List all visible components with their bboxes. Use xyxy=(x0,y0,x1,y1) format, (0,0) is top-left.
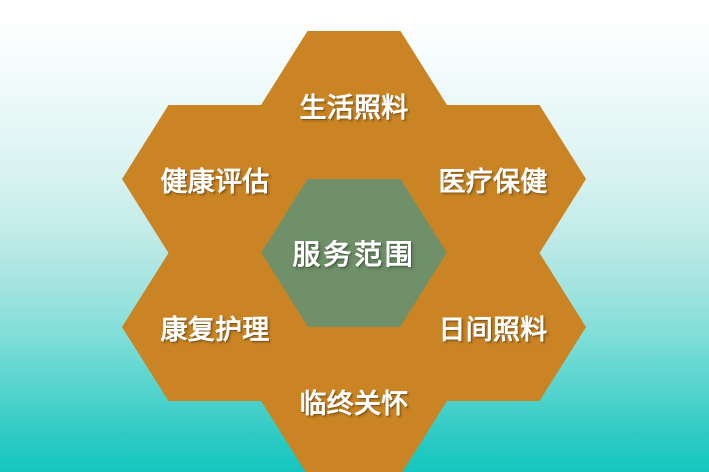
hex-node-label: 日间照料 xyxy=(438,308,547,347)
hex-node-label: 生活照料 xyxy=(299,86,408,125)
hex-node-label: 临终关怀 xyxy=(299,382,408,421)
hex-center-label: 服务范围 xyxy=(292,233,415,273)
hex-node-label: 医疗保健 xyxy=(438,160,547,199)
honeycomb-diagram-canvas: 生活照料 健康评估 医疗保健 服务范围 康复护理 日间照料 临终关怀 xyxy=(0,0,709,472)
hex-node-label: 康复护理 xyxy=(160,308,269,347)
hex-node-label: 健康评估 xyxy=(160,160,269,199)
